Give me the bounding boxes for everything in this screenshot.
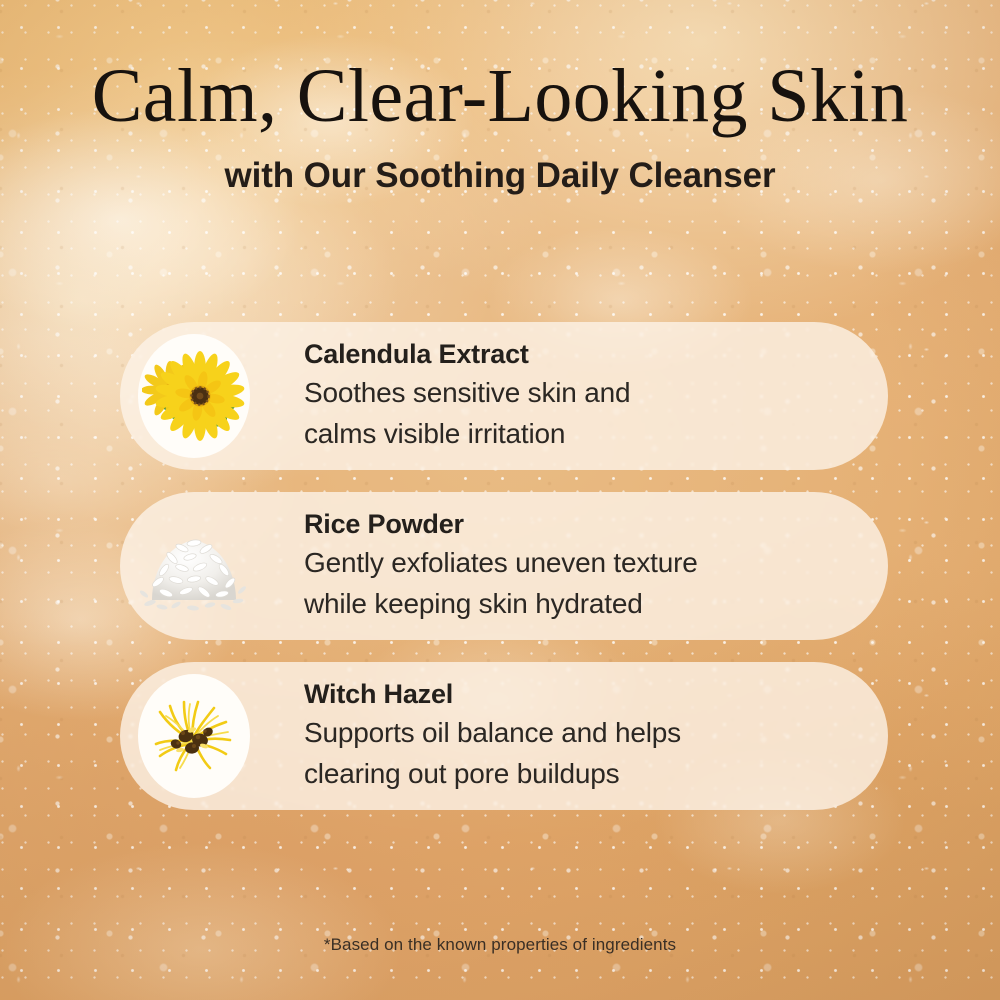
ingredient-description-line1: Soothes sensitive skin and [304,373,630,412]
ingredient-card-list: Calendula Extract Soothes sensitive skin… [120,322,888,832]
promo-poster: Calm, Clear-Looking Skin with Our Soothi… [0,0,1000,1000]
ingredient-description-line2: calms visible irritation [304,414,630,453]
ingredient-description-line2: clearing out pore buildups [304,754,681,793]
card-text-block: Witch Hazel Supports oil balance and hel… [304,679,681,793]
ingredient-description-line2: while keeping skin hydrated [304,584,698,623]
card-text-block: Rice Powder Gently exfoliates uneven tex… [304,509,698,623]
ingredient-description-line1: Supports oil balance and helps [304,713,681,752]
ingredient-title: Rice Powder [304,509,698,541]
ingredient-card-witch-hazel: Witch Hazel Supports oil balance and hel… [120,662,888,810]
page-title: Calm, Clear-Looking Skin [0,58,1000,134]
disclaimer-footnote: *Based on the known properties of ingred… [0,935,1000,955]
ingredient-card-rice-powder: Rice Powder Gently exfoliates uneven tex… [120,492,888,640]
page-subtitle: with Our Soothing Daily Cleanser [0,156,1000,196]
calendula-flower-icon [138,334,250,458]
card-text-block: Calendula Extract Soothes sensitive skin… [304,339,630,453]
ingredient-card-calendula: Calendula Extract Soothes sensitive skin… [120,322,888,470]
header-block: Calm, Clear-Looking Skin with Our Soothi… [0,0,1000,196]
ingredient-title: Witch Hazel [304,679,681,711]
ingredient-description-line1: Gently exfoliates uneven texture [304,543,698,582]
witch-hazel-flower-icon [138,674,250,798]
ingredient-title: Calendula Extract [304,339,630,371]
rice-powder-icon [138,504,250,628]
